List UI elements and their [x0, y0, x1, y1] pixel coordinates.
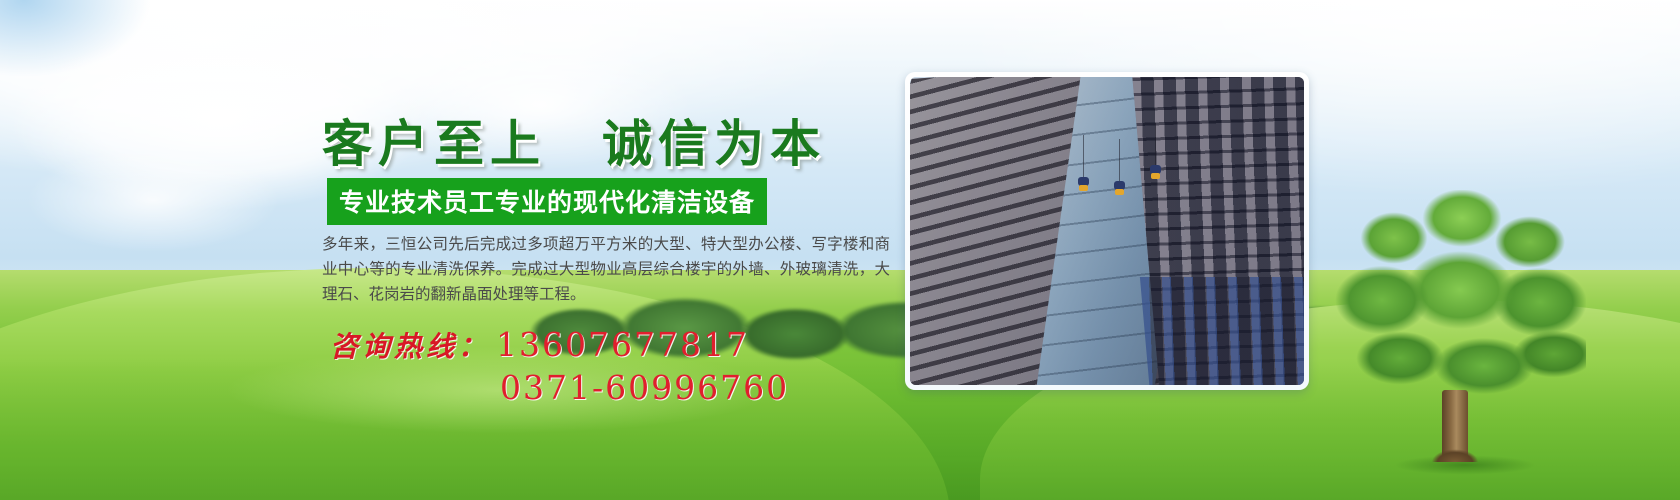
- hotline-landline-number[interactable]: 0371-60996760: [500, 368, 789, 407]
- hotline-label: 咨询热线：: [330, 325, 490, 365]
- worker-harness: [1115, 189, 1124, 195]
- rope-line: [1083, 135, 1084, 179]
- hotline-primary: 咨询热线： 13607677817: [330, 325, 749, 365]
- building-photo-card: [905, 72, 1309, 390]
- banner-headline: 客户至上 诚信为本: [322, 104, 882, 176]
- banner-description: 多年来，三恒公司先后完成过多项超万平方米的大型、特大型办公楼、写字楼和商业中心等…: [322, 232, 890, 307]
- rope-line: [1155, 123, 1156, 167]
- hotline-mobile-number[interactable]: 13607677817: [496, 325, 749, 364]
- promo-banner: 客户至上 诚信为本 专业技术员工专业的现代化清洁设备 多年来，三恒公司先后完成过…: [0, 0, 1680, 500]
- window-cleaner-worker: [1078, 177, 1089, 197]
- worker-harness: [1079, 185, 1088, 191]
- subtitle-bar-text: 专业技术员工专业的现代化清洁设备: [339, 189, 755, 217]
- window-cleaner-worker: [1150, 165, 1161, 185]
- rope-line: [1119, 139, 1120, 183]
- building-photo: [910, 77, 1304, 385]
- cloud-icon: [0, 120, 340, 280]
- photo-blue-windows: [1140, 277, 1304, 385]
- tree-graphic: [1330, 190, 1590, 490]
- worker-harness: [1151, 173, 1160, 179]
- tree-canopy: [1334, 190, 1586, 415]
- subtitle-bar: 专业技术员工专业的现代化清洁设备: [327, 178, 767, 225]
- window-cleaner-worker: [1114, 181, 1125, 201]
